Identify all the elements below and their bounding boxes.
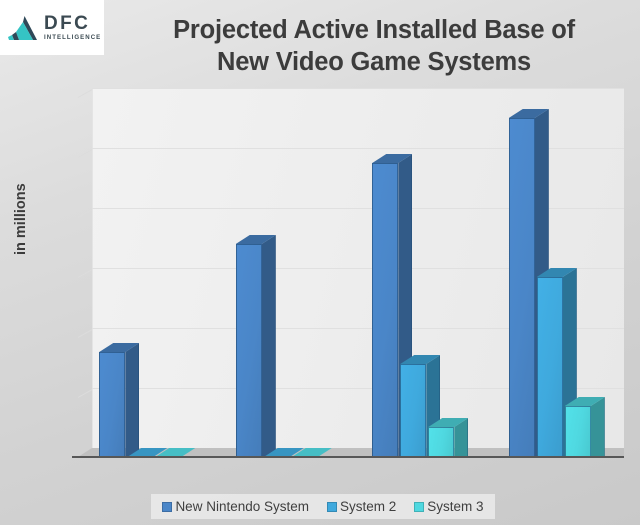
chart-title: Projected Active Installed Base of New V… [116,14,632,78]
legend-label: New Nintendo System [175,499,309,514]
bar-front-face [236,244,262,457]
legend-label: System 2 [340,499,396,514]
chart-title-line2: New Video Game Systems [116,46,632,78]
chart-legend: New Nintendo SystemSystem 2System 3 [151,494,495,519]
gridline-depth-edge [78,329,92,338]
bar-front-face [565,406,591,457]
gridline-depth-edge [78,389,92,398]
legend-label: System 3 [427,499,483,514]
dfc-mountain-icon [7,13,41,43]
bar-front-face [428,427,454,457]
gridline-depth-edge [78,209,92,218]
gridline-depth-edge [78,89,92,98]
bar[interactable] [400,364,426,457]
bar-front-face [537,277,563,457]
gridline-depth-edge [78,149,92,158]
bar-side-face [125,343,139,457]
bar[interactable] [509,118,535,457]
legend-item[interactable]: System 2 [327,499,396,514]
bar-front-face [99,352,125,457]
gridline-depth-edge [78,269,92,278]
bar-front-face [372,163,398,457]
logo-name: DFC [44,14,101,33]
y-axis-label: in millions [13,183,29,255]
legend-item[interactable]: System 3 [414,499,483,514]
x-axis-line [72,456,624,458]
bar-front-face [509,118,535,457]
bar-side-face [591,397,605,457]
bar[interactable] [99,352,125,457]
legend-swatch-icon [162,502,172,512]
bar[interactable] [428,427,454,457]
legend-swatch-icon [414,502,424,512]
dfc-logo: DFC INTELLIGENCE [0,0,104,55]
bar-side-face [262,235,276,457]
bar-front-face [400,364,426,457]
bar[interactable] [372,163,398,457]
legend-swatch-icon [327,502,337,512]
bar[interactable] [565,406,591,457]
chart-plot-area: 0102030405060 2025202620272028 [78,97,624,457]
bar[interactable] [537,277,563,457]
gridline [92,88,624,89]
bar[interactable] [236,244,262,457]
legend-item[interactable]: New Nintendo System [162,499,309,514]
logo-subtitle: INTELLIGENCE [44,35,101,41]
chart-title-line1: Projected Active Installed Base of [116,14,632,46]
logo-wordmark: DFC INTELLIGENCE [44,14,101,42]
